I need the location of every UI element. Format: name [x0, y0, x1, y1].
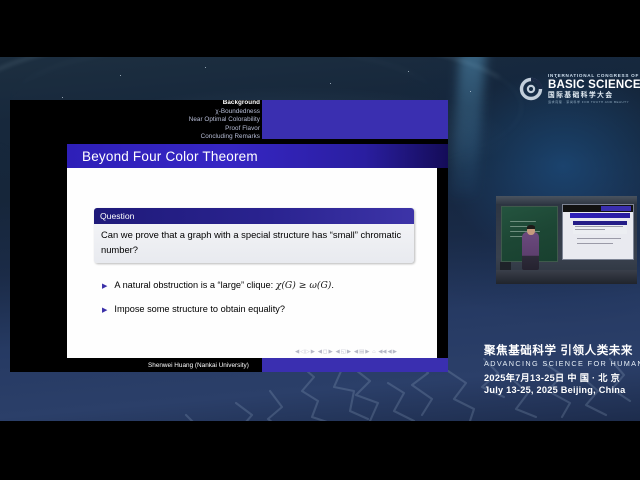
bullet-triangle-icon: ▶	[102, 307, 107, 314]
question-block-header: Question	[94, 208, 414, 224]
congress-circle-logo-icon	[519, 77, 543, 101]
mini-slide-navbar	[563, 205, 633, 212]
speaker-figure	[522, 232, 539, 270]
list-item: ▶ A natural obstruction is a “large” cli…	[102, 280, 417, 291]
slide-navigation-bar: Background χ-Boundedness Near Optimal Co…	[10, 100, 448, 144]
nav-item-proof-flavor[interactable]: Proof Flavor	[168, 125, 260, 134]
lecture-room-floor	[496, 270, 637, 284]
bullet-triangle-icon: ▶	[102, 283, 107, 290]
nav-item-chi-boundedness[interactable]: χ-Boundedness	[168, 108, 260, 117]
congress-caption: 聚焦基础科学 引领人类未来 ADVANCING SCIENCE FOR HUMA…	[484, 345, 640, 396]
navsym-slide-icon[interactable]: ◀ ◁ ▷ ▶	[295, 349, 315, 355]
stage-sparkle	[120, 75, 121, 76]
slide-body: Question Can we prove that a graph with …	[67, 168, 437, 358]
nav-item-near-optimal-colorability[interactable]: Near Optimal Colorability	[168, 116, 260, 125]
mini-question-header	[573, 221, 627, 225]
caption-slogan-english: ADVANCING SCIENCE FOR HUMANITY	[484, 359, 640, 369]
stage-sparkle	[62, 97, 63, 98]
footer-accent-block	[262, 358, 448, 372]
stage-sparkle	[205, 67, 206, 68]
bullet-text-lead: A natural obstruction is a “large” cliqu…	[114, 280, 275, 290]
caption-date-chinese: 2025年7月13-25日 中 国 · 北 京	[484, 372, 640, 384]
caption-date-english: July 13-25, 2025 Beijing, China	[484, 384, 640, 396]
speaker-hair	[527, 225, 535, 229]
mini-nav-accent	[601, 206, 631, 211]
letterbox-bottom	[0, 421, 640, 480]
logo-line-chinese: 国际基础科学大会	[548, 93, 640, 100]
bullet-text: A natural obstruction is a “large” cliqu…	[114, 280, 334, 291]
slide-title: Beyond Four Color Theorem	[82, 149, 258, 164]
caption-slogan-chinese: 聚焦基础科学 引领人类未来	[484, 345, 640, 358]
mini-slide-title-bar	[570, 213, 630, 218]
list-item: ▶ Impose some structure to obtain equali…	[102, 304, 417, 315]
logo-line-international: INTERNATIONAL CONGRESS OF	[548, 74, 640, 79]
logo-line-basic-science: BASIC SCIENCE	[548, 80, 640, 92]
navsym-home-icon[interactable]: ⌂	[372, 349, 375, 355]
nav-item-background[interactable]: Background	[168, 100, 260, 108]
stage-sparkle	[470, 91, 471, 92]
mini-question-block	[573, 221, 627, 234]
nav-item-concluding-remarks[interactable]: Concluding Remarks	[168, 133, 260, 142]
slide-title-bar: Beyond Four Color Theorem	[67, 144, 448, 168]
navsym-back-forward-icon[interactable]: ◀◀ ◀ ▶	[378, 349, 396, 355]
navsym-frame-icon[interactable]: ◀ ◻ ▶	[318, 349, 333, 355]
nav-accent-block	[262, 100, 448, 139]
logo-line-tagline: 追求真理 · 崇尚科学 FOR TRUTH AND BEAUTY	[548, 101, 640, 104]
logo-text-block: INTERNATIONAL CONGRESS OF BASIC SCIENCE …	[548, 74, 640, 104]
bullet-text-tail: .	[331, 280, 334, 290]
congress-logo: INTERNATIONAL CONGRESS OF BASIC SCIENCE …	[519, 71, 637, 107]
question-block-body: Can we prove that a graph with a special…	[94, 224, 414, 263]
lecture-room-ceiling	[496, 196, 637, 204]
bullet-math-expression: χ(G) ≥ ω(G)	[276, 280, 332, 291]
question-theorem-block: Question Can we prove that a graph with …	[94, 208, 414, 263]
bullet-text: Impose some structure to obtain equality…	[114, 304, 285, 315]
stage-sparkle	[408, 71, 409, 72]
beamer-navigation-symbols[interactable]: ◀ ◁ ▷ ▶ ◀ ◻ ▶ ◀ ◱ ▶ ◀ ▤ ▶ ⌂ ◀◀ ◀ ▶	[295, 349, 397, 355]
presentation-slide: Background χ-Boundedness Near Optimal Co…	[10, 100, 448, 372]
letterbox-top	[0, 0, 640, 57]
slide-section-nav: Background χ-Boundedness Near Optimal Co…	[168, 100, 260, 142]
projection-screen	[562, 204, 634, 260]
video-player-frame: INTERNATIONAL CONGRESS OF BASIC SCIENCE …	[0, 0, 640, 480]
speaker-camera-feed[interactable]	[496, 196, 637, 284]
navsym-subsection-icon[interactable]: ◀ ◱ ▶	[335, 349, 350, 355]
bullet-list: ▶ A natural obstruction is a “large” cli…	[102, 280, 417, 328]
footer-author-name: Shenwei Huang (Nankai University)	[148, 362, 249, 369]
navsym-section-icon[interactable]: ◀ ▤ ▶	[354, 349, 369, 355]
slide-footer: Shenwei Huang (Nankai University)	[10, 358, 448, 372]
